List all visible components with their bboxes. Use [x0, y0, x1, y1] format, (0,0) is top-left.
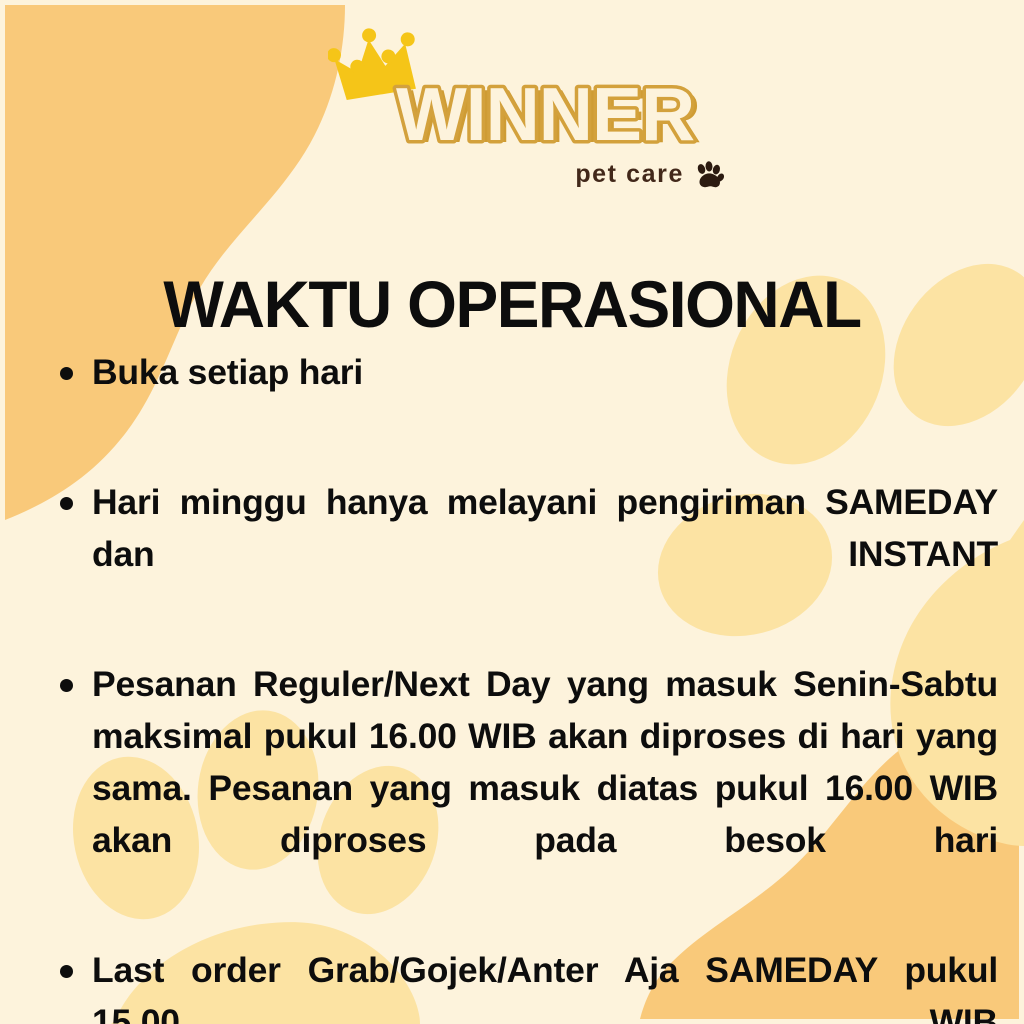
wordmark-main-text: WINNER	[396, 72, 694, 156]
list-item-label: Hari minggu hanya melayani pengiriman SA…	[92, 476, 998, 632]
paw-print-icon	[694, 160, 724, 190]
operating-hours-list: Buka setiap hari Hari minggu hanya melay…	[46, 346, 998, 1024]
tagline-text: pet care	[575, 162, 684, 187]
bullet-dot-icon	[60, 367, 73, 380]
wordmark-winner: WINNER WINNER	[392, 72, 722, 158]
list-item: Last order Grab/Gojek/Anter Aja SAMEDAY …	[46, 944, 998, 1024]
list-item-label: Buka setiap hari	[92, 346, 998, 450]
poster-canvas: WINNER WINNER pet care WAKTU OPERASIONAL…	[0, 0, 1024, 1024]
list-item: Hari minggu hanya melayani pengiriman SA…	[46, 476, 998, 632]
bullet-dot-icon	[60, 679, 73, 692]
list-item-label: Last order Grab/Gojek/Anter Aja SAMEDAY …	[92, 944, 998, 1024]
brand-tagline-row: pet care	[0, 158, 724, 190]
brand-logo: WINNER WINNER pet care	[0, 14, 1024, 199]
list-item-label: Pesanan Reguler/Next Day yang masuk Seni…	[92, 658, 998, 918]
list-item: Buka setiap hari	[46, 346, 998, 450]
bullet-dot-icon	[60, 965, 73, 978]
bullet-dot-icon	[60, 497, 73, 510]
page-title: WAKTU OPERASIONAL	[15, 266, 1008, 342]
list-item: Pesanan Reguler/Next Day yang masuk Seni…	[46, 658, 998, 918]
